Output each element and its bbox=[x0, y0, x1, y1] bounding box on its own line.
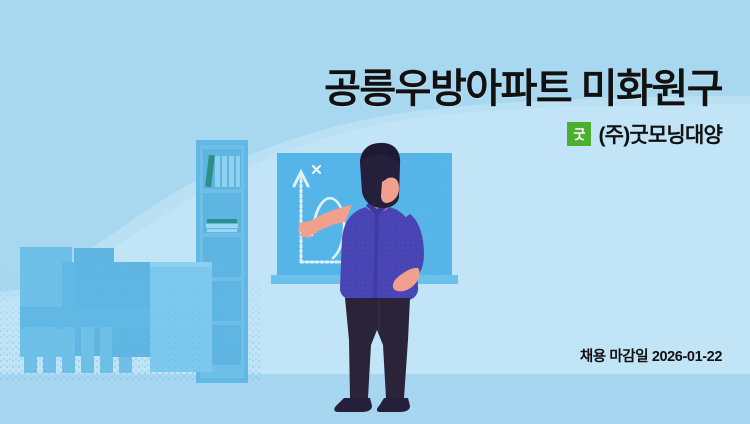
left-shoe bbox=[334, 398, 372, 412]
company-row: 굿 (주)굿모닝대양 bbox=[324, 119, 722, 149]
banner-text-block: 공릉우방아파트 미화원구 굿 (주)굿모닝대양 bbox=[324, 68, 722, 149]
page-title: 공릉우방아파트 미화원구 bbox=[324, 68, 722, 110]
company-logo-icon: 굿 bbox=[567, 122, 591, 146]
company-name: (주)굿모닝대양 bbox=[598, 119, 722, 149]
furniture-dither bbox=[0, 250, 260, 380]
books-row-flat bbox=[206, 219, 238, 232]
application-deadline: 채용 마감일 2026-01-22 bbox=[580, 345, 722, 366]
pants bbox=[345, 298, 410, 398]
job-posting-banner: 공릉우방아파트 미화원구 굿 (주)굿모닝대양 채용 마감일 2026-01-2… bbox=[0, 0, 750, 424]
right-shoe bbox=[377, 398, 410, 412]
